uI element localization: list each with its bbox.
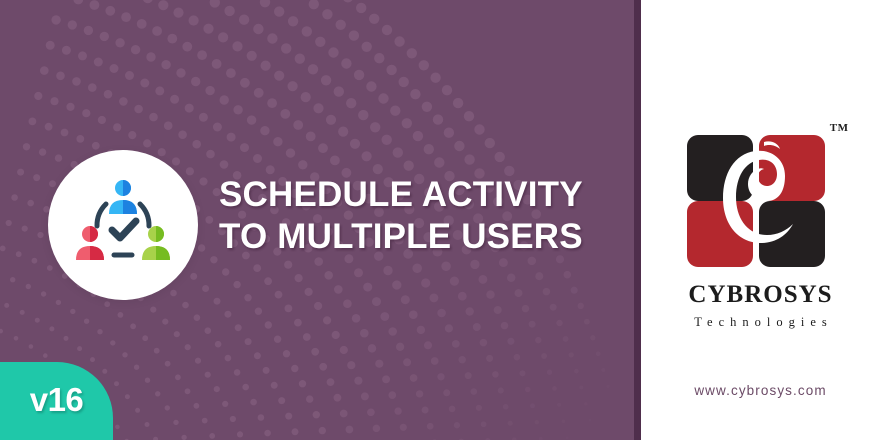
connector-arc-left xyxy=(97,204,106,226)
multiple-users-activity-icon xyxy=(76,178,170,272)
brand-name: CYBROSYS xyxy=(641,282,880,307)
panel-divider xyxy=(634,0,641,440)
brand-block: TM CYBROSYS Technologies xyxy=(641,118,880,329)
headline-line-1: SCHEDULE ACTIVITY xyxy=(219,174,619,216)
left-purple-panel: SCHEDULE ACTIVITY TO MULTIPLE USERS v16 xyxy=(0,0,640,440)
brand-tagline: Technologies xyxy=(641,316,880,329)
connector-arc-right xyxy=(140,204,149,226)
checkmark-icon xyxy=(112,221,136,238)
cybrosys-logo: TM xyxy=(685,118,837,268)
person-left-icon xyxy=(76,226,104,260)
page-title: SCHEDULE ACTIVITY TO MULTIPLE USERS xyxy=(219,174,619,258)
website-url: www.cybrosys.com xyxy=(641,383,880,398)
logo-square-bottom-right xyxy=(759,201,825,267)
headline-line-2: TO MULTIPLE USERS xyxy=(219,216,619,258)
promo-banner: SCHEDULE ACTIVITY TO MULTIPLE USERS v16 xyxy=(0,0,880,440)
version-badge-label: v16 xyxy=(30,381,84,421)
trademark-symbol: TM xyxy=(830,122,849,134)
person-right-icon xyxy=(142,226,170,260)
person-top-icon xyxy=(109,180,137,214)
feature-icon-circle xyxy=(48,150,198,300)
right-brand-panel: TM CYBROSYS Technologies www.cybrosys.co… xyxy=(641,0,880,440)
